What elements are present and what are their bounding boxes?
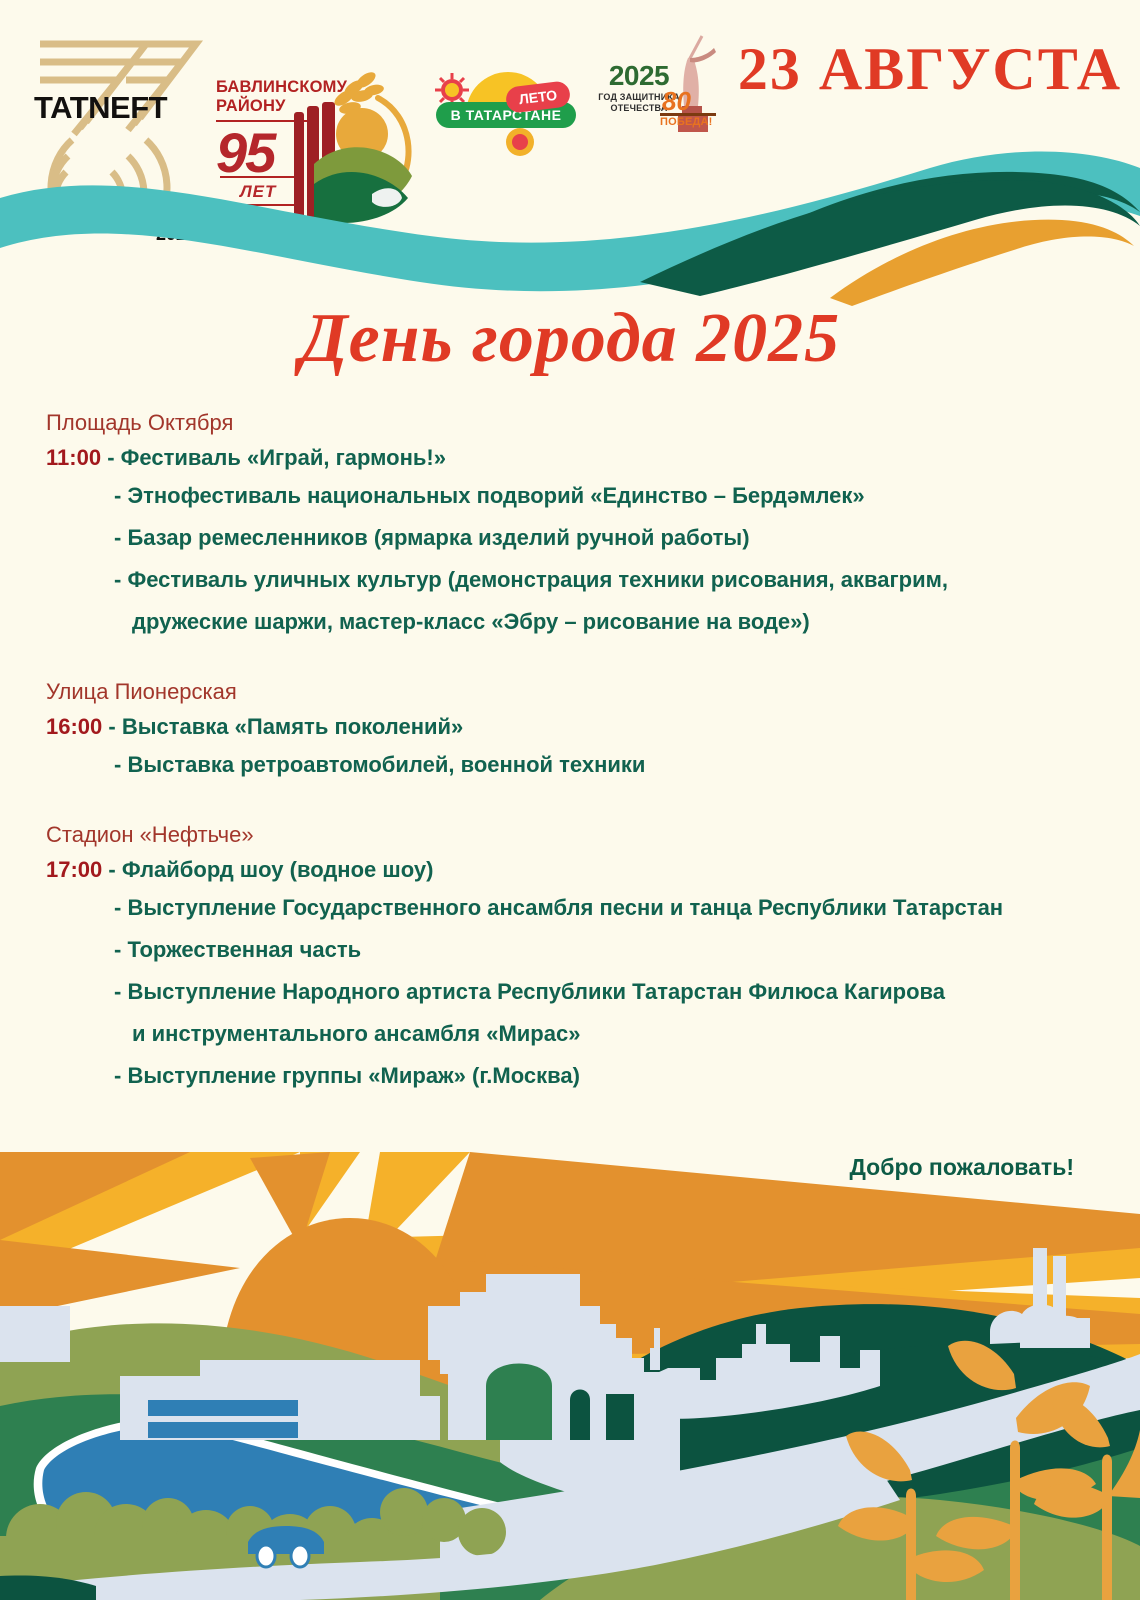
program-headline-text: - Фестиваль «Играй, гармонь!» xyxy=(107,445,446,470)
program-section: Стадион «Нефтьче» 17:00 - Флайборд шоу (… xyxy=(46,820,1096,1097)
welcome-text: Добро пожаловать! xyxy=(850,1154,1074,1181)
program-schedule: Площадь Октября 11:00 - Фестиваль «Играй… xyxy=(46,408,1096,1097)
section-spacer xyxy=(46,786,1096,820)
program-item: - Фестиваль уличных культур (демонстраци… xyxy=(46,559,1096,601)
decorative-waves xyxy=(0,150,1140,320)
landscape-graphic xyxy=(0,1118,1140,1600)
victory-80-logo: 80 ПОБЕДА! xyxy=(658,28,724,138)
program-section: Улица Пионерская 16:00 - Выставка «Памят… xyxy=(46,677,1096,786)
program-headline: 11:00 - Фестиваль «Играй, гармонь!» xyxy=(46,441,1096,475)
poster-root: TATNEFT 1950 2025 БАВЛИНСКОМУ РАЙОНУ 95 … xyxy=(0,0,1140,1600)
program-item: - Базар ремесленников (ярмарка изделий р… xyxy=(46,517,1096,559)
program-item-continuation: и инструментального ансамбля «Мирас» xyxy=(46,1013,1096,1055)
program-headline-text: - Выставка «Память поколений» xyxy=(108,714,463,739)
section-spacer xyxy=(46,643,1096,677)
program-headline: 17:00 - Флайборд шоу (водное шоу) xyxy=(46,853,1096,887)
wave-graphic xyxy=(0,150,1140,320)
program-item: - Выставка ретроавтомобилей, военной тех… xyxy=(46,744,1096,786)
victory-label: ПОБЕДА! xyxy=(660,116,713,128)
leto-v-tatarstane-logo: В ТАТАРСТАНЕ ЛЕТО xyxy=(428,62,588,162)
program-time: 11:00 xyxy=(46,445,101,470)
landscape-illustration: Добро пожаловать! xyxy=(0,1118,1140,1600)
program-section: Площадь Октября 11:00 - Фестиваль «Играй… xyxy=(46,408,1096,643)
tatneft-wordmark: TATNEFT xyxy=(34,90,194,126)
program-item: - Выступление Народного артиста Республи… xyxy=(46,971,1096,1013)
program-time: 17:00 xyxy=(46,857,102,882)
program-time: 16:00 xyxy=(46,714,102,739)
victory-number: 80 xyxy=(662,88,691,114)
event-date: 23 АВГУСТА xyxy=(735,38,1125,100)
venue-name: Улица Пионерская xyxy=(46,677,1096,707)
program-item: - Выступление группы «Мираж» (г.Москва) xyxy=(46,1055,1096,1097)
program-headline: 16:00 - Выставка «Память поколений» xyxy=(46,710,1096,744)
program-item: - Торжественная часть xyxy=(46,929,1096,971)
program-item: - Выступление Государственного ансамбля … xyxy=(46,887,1096,929)
program-item-continuation: дружеские шаржи, мастер-класс «Эбру – ри… xyxy=(46,601,1096,643)
program-headline-text: - Флайборд шоу (водное шоу) xyxy=(108,857,433,882)
venue-name: Стадион «Нефтьче» xyxy=(46,820,1096,850)
page-title: День города 2025 xyxy=(0,300,1140,378)
venue-name: Площадь Октября xyxy=(46,408,1096,438)
program-item: - Этнофестиваль национальных подворий «Е… xyxy=(46,475,1096,517)
